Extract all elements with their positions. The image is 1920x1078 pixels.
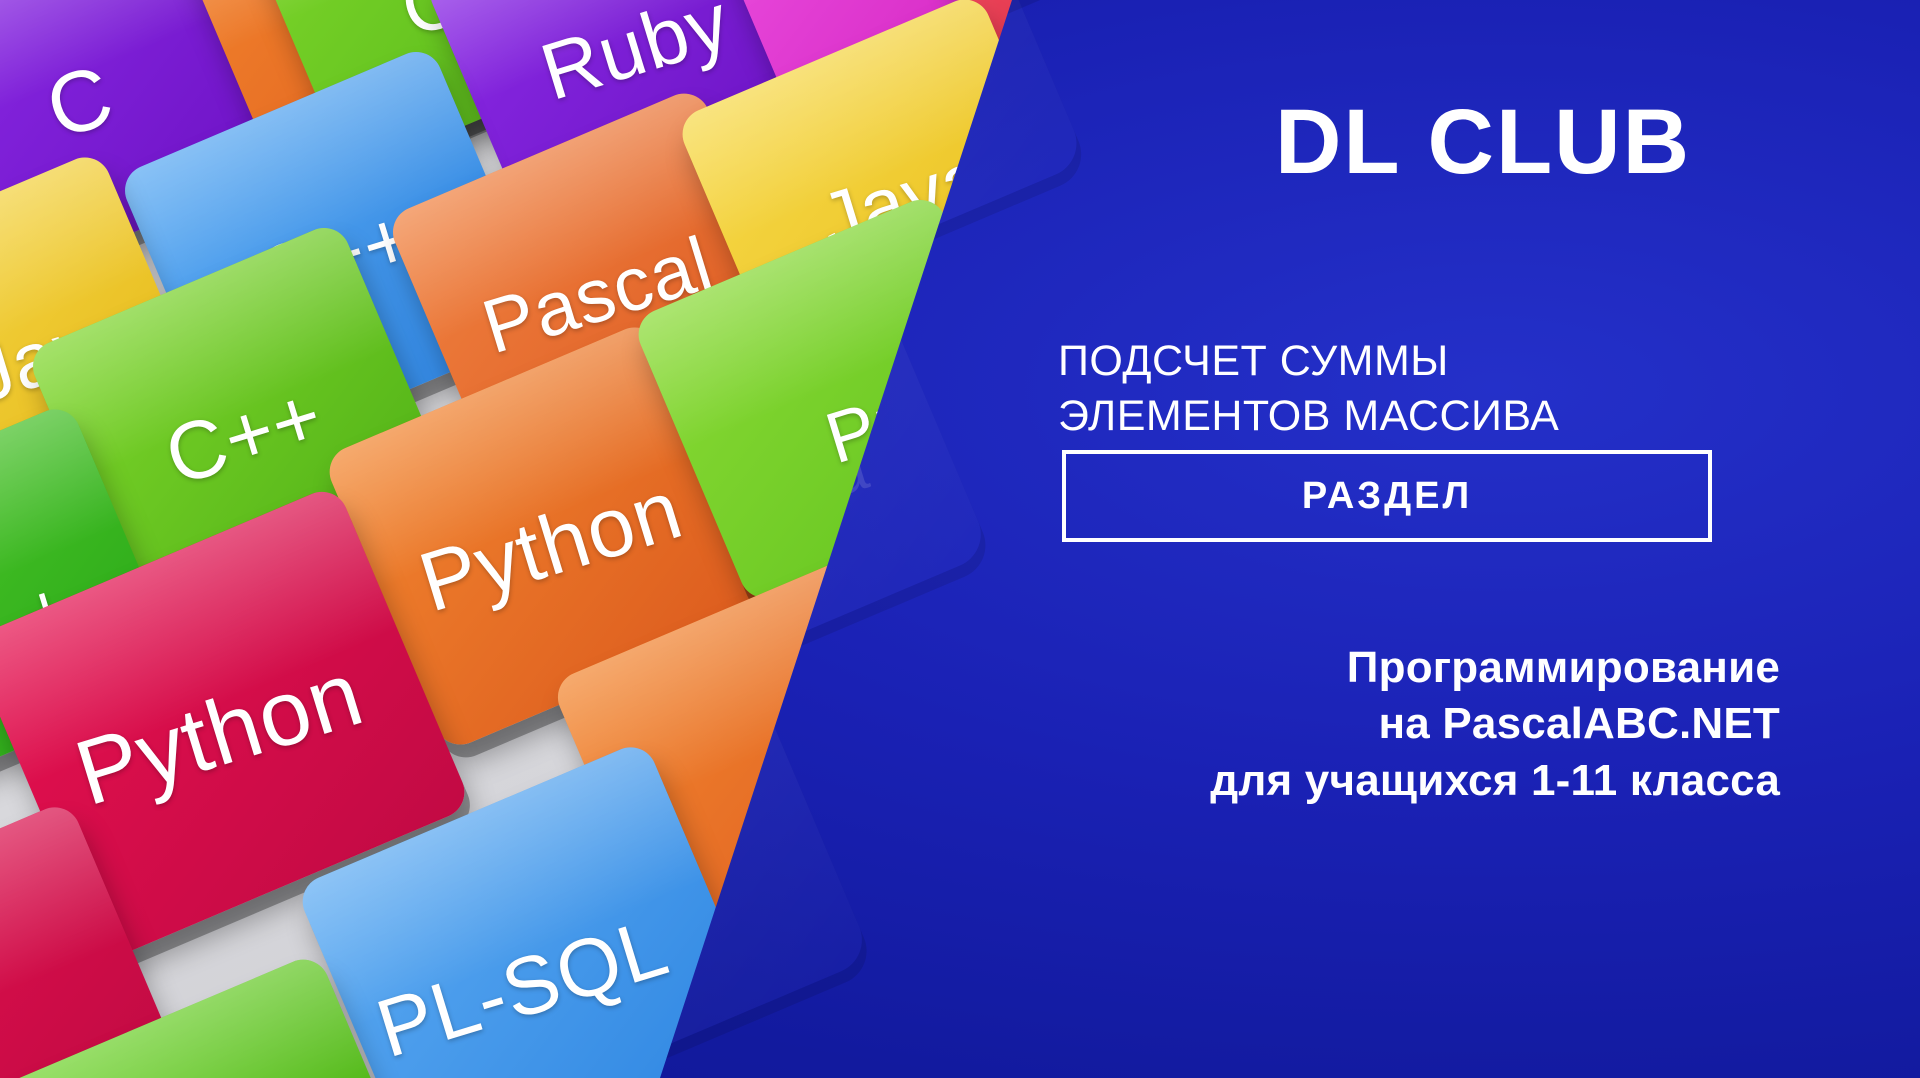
section-badge[interactable]: РАЗДЕЛ: [1062, 450, 1712, 542]
poster-footer: Программирование на PascalABC.NET для уч…: [1050, 640, 1780, 809]
footer-line-1: Программирование: [1050, 640, 1780, 696]
footer-line-3: для учащихся 1-11 класса: [1050, 753, 1780, 809]
key-label: Ruby: [530, 0, 739, 119]
heading-line-2: ЭЛЕМЕНТОВ МАССИВА: [1058, 389, 1758, 444]
poster-heading: ПОДСЧЕТ СУММЫ ЭЛЕМЕНТОВ МАССИВА: [1058, 334, 1758, 444]
key-label: Python: [64, 641, 374, 827]
brand-title: DL CLUB: [1068, 96, 1898, 188]
poster-text-content: DL CLUB ПОДСЧЕТ СУММЫ ЭЛЕМЕНТОВ МАССИВА …: [1050, 0, 1920, 1078]
footer-line-2: на PascalABC.NET: [1050, 696, 1780, 752]
key-label: C++: [155, 369, 334, 505]
key-label: Python: [408, 460, 692, 631]
key-label: C: [36, 45, 125, 158]
heading-line-1: ПОДСЧЕТ СУММЫ: [1058, 337, 1449, 385]
section-badge-label: РАЗДЕЛ: [1302, 475, 1472, 518]
poster-canvas: C Pascal C++ Ruby C++ Pascal Java Java C…: [0, 0, 1920, 1078]
